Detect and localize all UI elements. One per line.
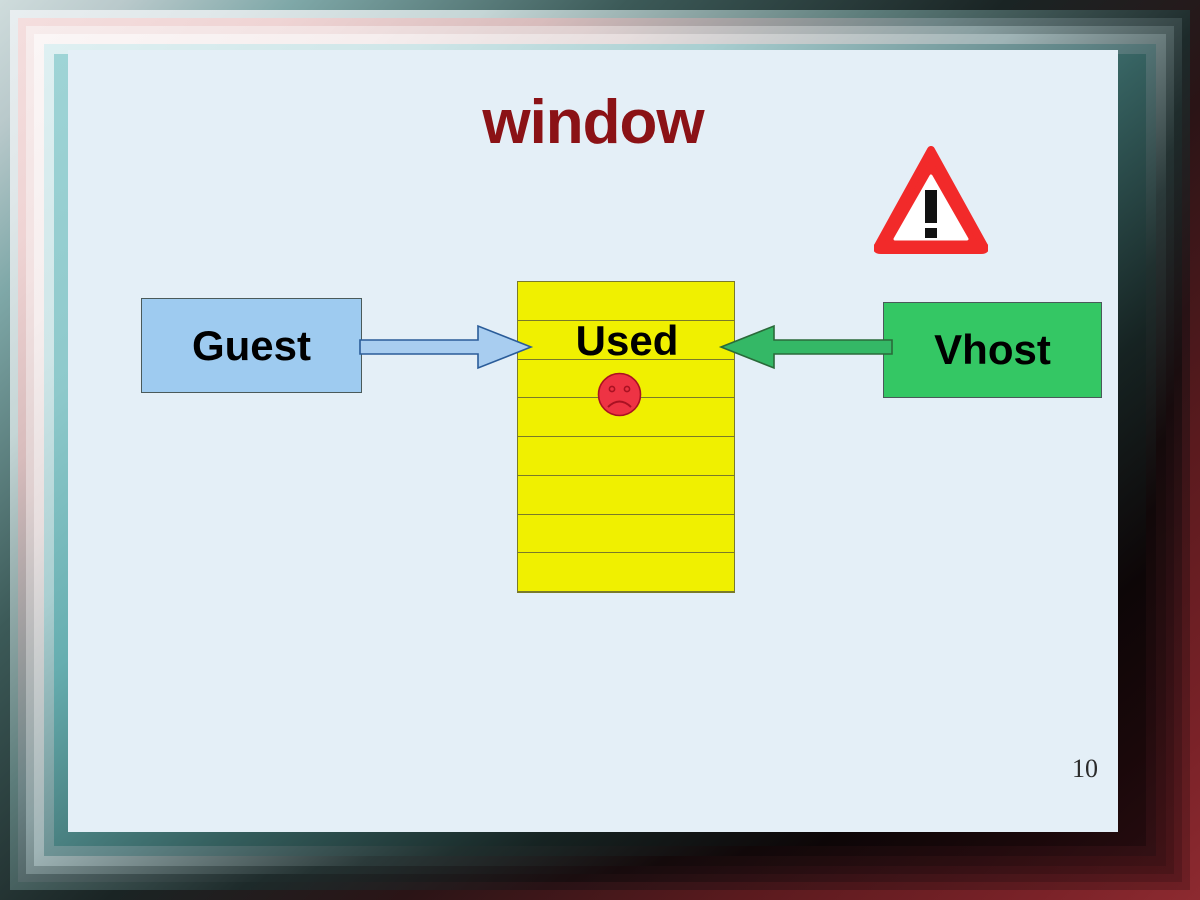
slide-content-area: window Guest Vhost Used xyxy=(68,50,1118,832)
guest-box[interactable]: Guest xyxy=(141,298,362,393)
arrow-guest-to-used xyxy=(360,324,532,370)
ring-buffer-row xyxy=(518,437,734,476)
guest-box-label: Guest xyxy=(192,322,311,370)
sad-face-icon xyxy=(596,371,643,418)
warning-triangle-icon xyxy=(874,146,988,254)
vhost-box[interactable]: Vhost xyxy=(883,302,1102,398)
used-ring-buffer[interactable]: Used xyxy=(517,281,735,593)
vhost-box-label: Vhost xyxy=(934,326,1051,374)
page-title: window xyxy=(68,92,1118,154)
presentation-slide: window Guest Vhost Used xyxy=(0,0,1200,900)
page-number: 10 xyxy=(1072,754,1098,784)
ring-buffer-row xyxy=(518,515,734,554)
arrow-vhost-to-used xyxy=(720,324,892,370)
ring-buffer-row xyxy=(518,282,734,321)
ring-buffer-row xyxy=(518,553,734,592)
ring-buffer-row xyxy=(518,476,734,515)
used-ring-buffer-label: Used xyxy=(518,320,736,362)
